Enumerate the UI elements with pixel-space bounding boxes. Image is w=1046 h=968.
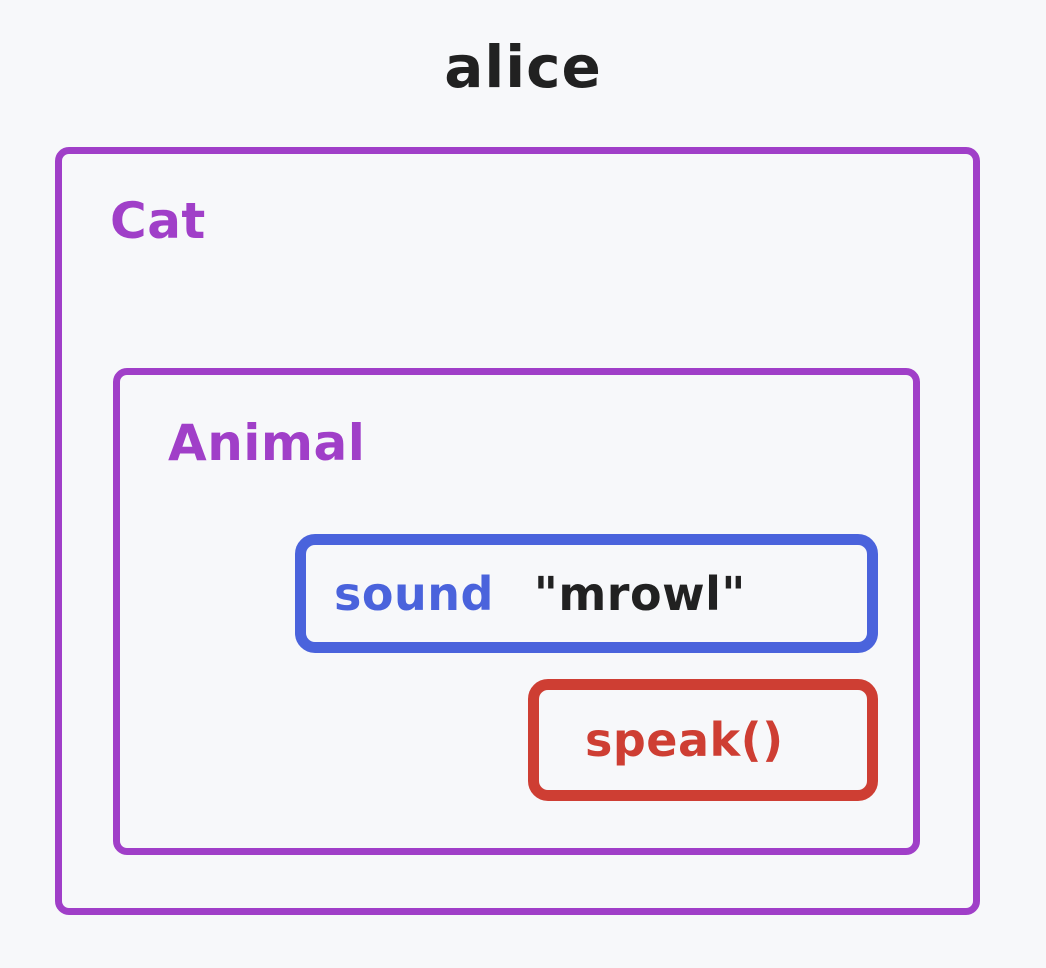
- method-name: speak(): [585, 717, 784, 763]
- class-label-cat: Cat: [110, 196, 206, 246]
- class-label-animal: Animal: [168, 418, 365, 468]
- attribute-slot-sound[interactable]: sound "mrowl": [295, 534, 878, 653]
- diagram-canvas: alice Cat Animal sound "mrowl" speak(): [0, 0, 1046, 968]
- object-title: alice: [0, 38, 1046, 96]
- attribute-name: sound: [334, 571, 494, 617]
- method-slot-speak[interactable]: speak(): [528, 679, 878, 801]
- attribute-value: "mrowl": [534, 571, 746, 617]
